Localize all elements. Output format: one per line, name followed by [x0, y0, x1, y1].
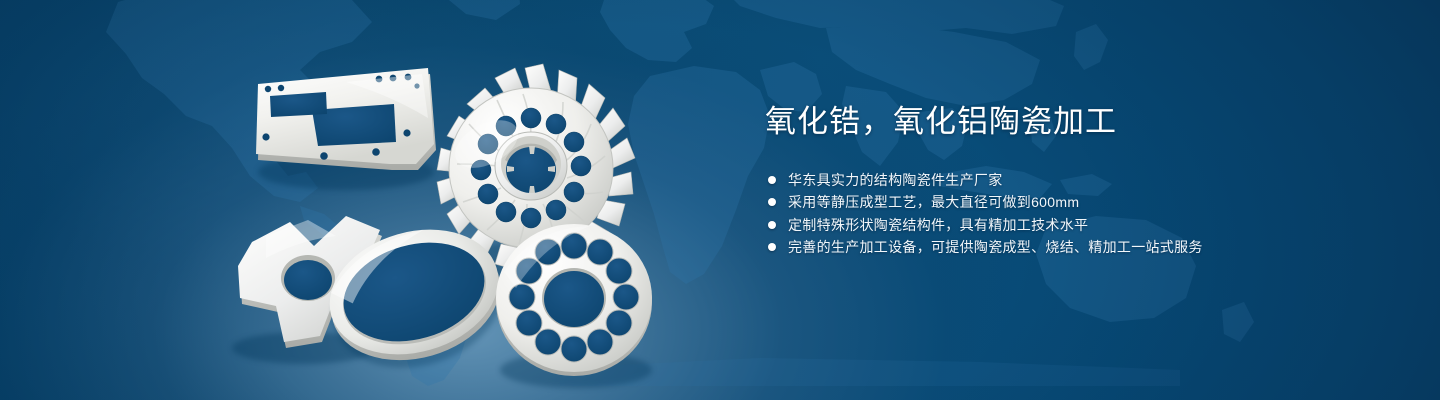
list-item: 采用等静压成型工艺，最大直径可做到600mm [768, 191, 1385, 213]
bullet-dot-icon [768, 176, 776, 184]
feature-text: 采用等静压成型工艺，最大直径可做到600mm [788, 191, 1079, 213]
bullet-dot-icon [768, 243, 776, 251]
list-item: 完善的生产加工设备，可提供陶瓷成型、烧结、精加工一站式服务 [768, 236, 1385, 258]
feature-text: 完善的生产加工设备，可提供陶瓷成型、烧结、精加工一站式服务 [788, 236, 1203, 258]
feature-text: 定制特殊形状陶瓷结构件，具有精加工技术水平 [788, 214, 1088, 236]
bullet-dot-icon [768, 221, 776, 229]
ceramic-processing-banner: 氧化锆，氧化铝陶瓷加工 华东具实力的结构陶瓷件生产厂家 采用等静压成型工艺，最大… [0, 0, 1440, 400]
page-title: 氧化锆，氧化铝陶瓷加工 [765, 104, 1385, 141]
feature-list: 华东具实力的结构陶瓷件生产厂家 采用等静压成型工艺，最大直径可做到600mm 定… [768, 169, 1385, 259]
list-item: 华东具实力的结构陶瓷件生产厂家 [768, 169, 1385, 191]
list-item: 定制特殊形状陶瓷结构件，具有精加工技术水平 [768, 214, 1385, 236]
feature-text: 华东具实力的结构陶瓷件生产厂家 [788, 169, 1003, 191]
bullet-dot-icon [768, 198, 776, 206]
banner-copy: 氧化锆，氧化铝陶瓷加工 华东具实力的结构陶瓷件生产厂家 采用等静压成型工艺，最大… [765, 104, 1385, 259]
